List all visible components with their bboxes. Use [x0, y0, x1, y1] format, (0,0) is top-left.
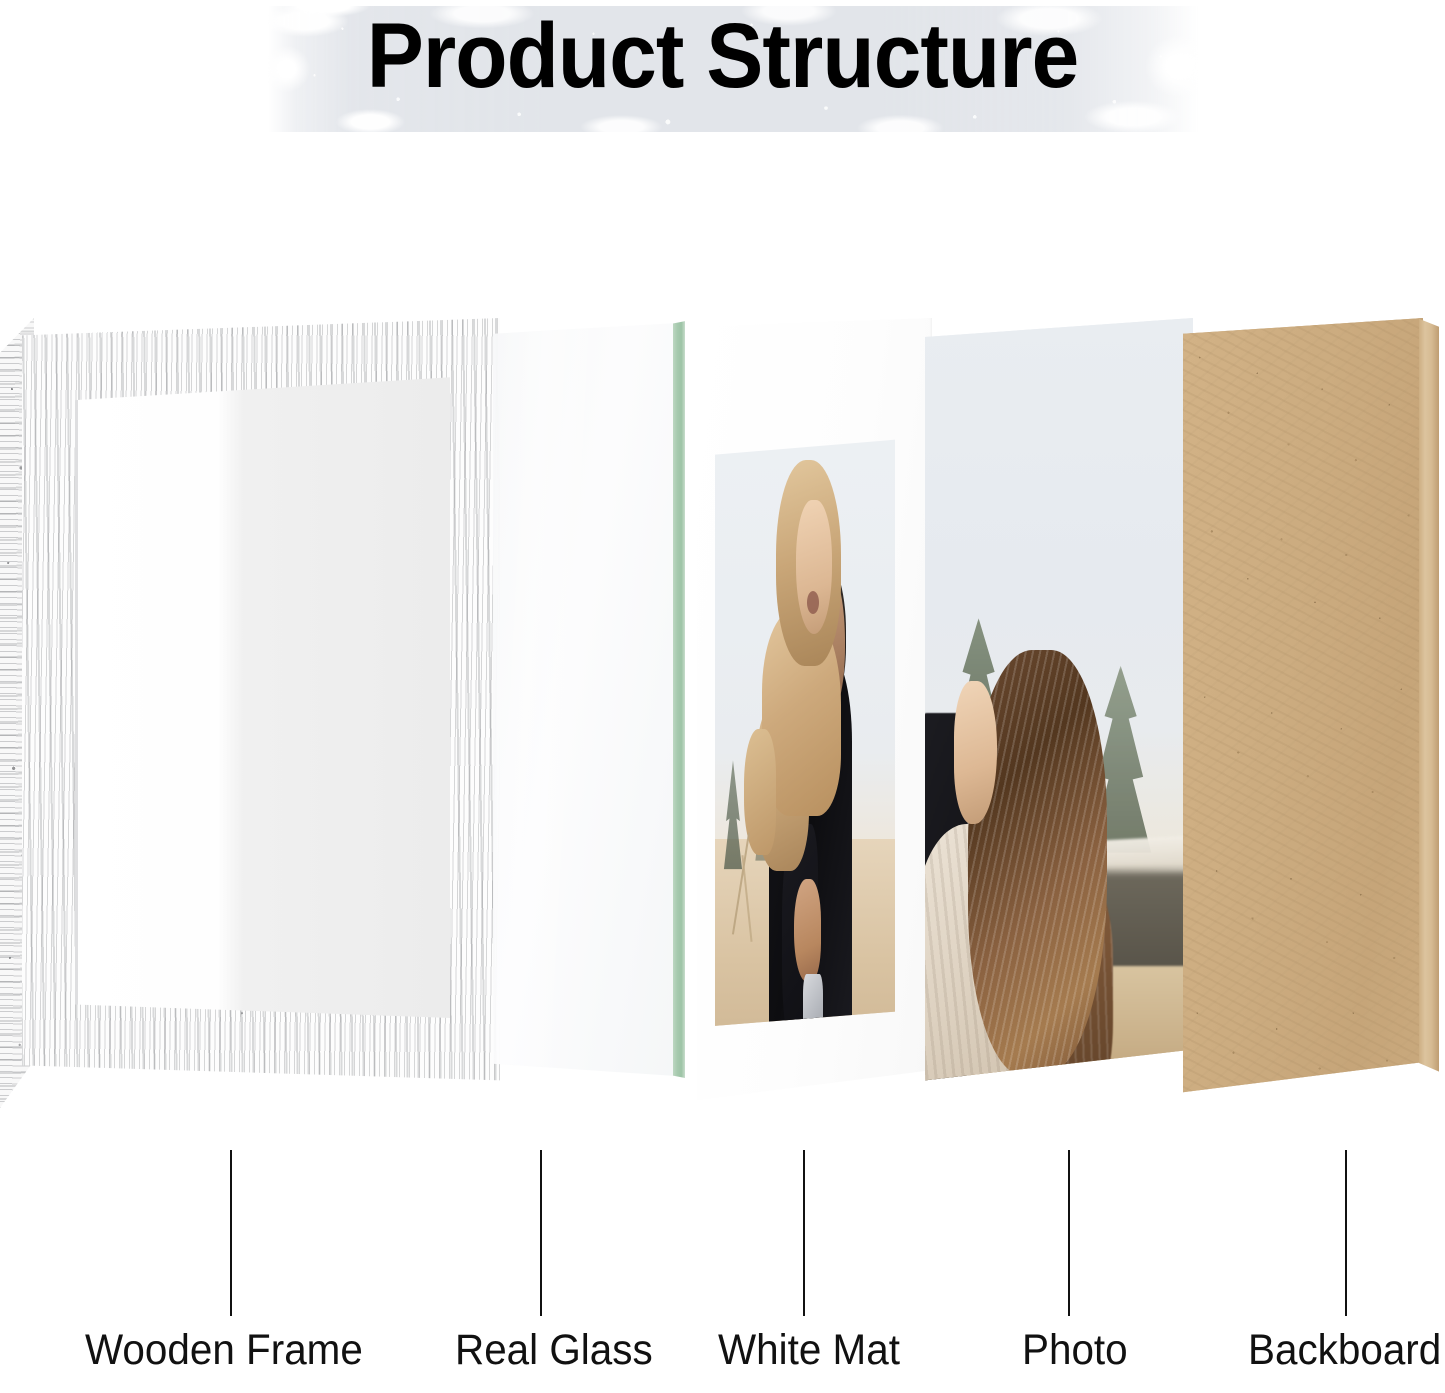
leader-line-white-mat: [803, 1150, 805, 1316]
layer-backboard: [1183, 318, 1445, 1108]
layer-photo: [925, 318, 1197, 1108]
layer-real-glass: [493, 318, 693, 1108]
leader-line-photo: [1068, 1150, 1070, 1316]
layer-wooden-frame: [0, 318, 500, 1108]
label-photo: Photo: [1022, 1325, 1128, 1375]
glass-green-edge: [673, 318, 685, 1108]
photo-print-woman-pines: [925, 318, 1193, 1108]
frame-inner-bevel-shadow: [75, 318, 450, 1108]
backboard-side-edge: [1419, 318, 1439, 1108]
label-wooden-frame: Wooden Frame: [85, 1325, 363, 1375]
product-structure-infographic: Product Structure: [0, 0, 1445, 1393]
layer-white-mat: [697, 318, 937, 1108]
backboard-front-face: [1183, 318, 1423, 1108]
photo-pine-tree: [722, 760, 744, 886]
label-white-mat: White Mat: [718, 1325, 900, 1375]
leader-line-backboard: [1345, 1150, 1347, 1316]
exploded-layer-diagram: [0, 0, 1445, 1130]
glass-reflection-sheen: [497, 318, 681, 1108]
label-group: Wooden Frame Real Glass White Mat Photo …: [0, 1325, 1445, 1393]
photo-girl-face: [796, 500, 832, 634]
leader-line-wooden-frame: [230, 1150, 232, 1316]
leader-line-real-glass: [540, 1150, 542, 1316]
photo-man-hand: [794, 879, 821, 982]
label-real-glass: Real Glass: [455, 1325, 653, 1375]
label-backboard: Backboard: [1248, 1325, 1441, 1375]
